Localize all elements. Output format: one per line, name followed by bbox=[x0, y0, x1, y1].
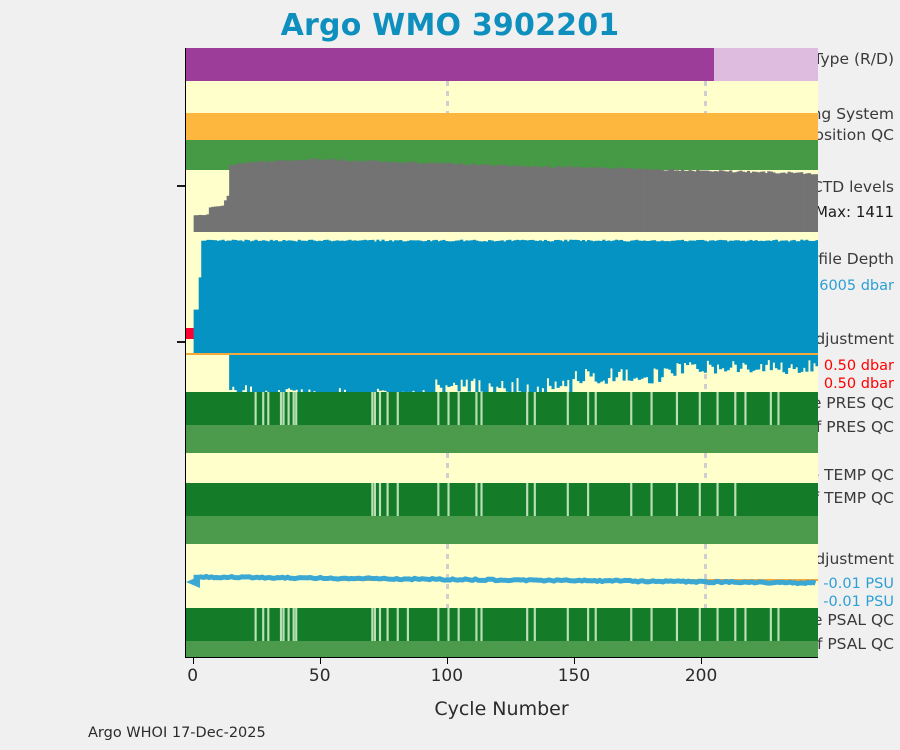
panel-date-type[interactable] bbox=[186, 48, 818, 81]
page-title: Argo WMO 3902201 bbox=[0, 8, 900, 43]
x-tick-label-100: 100 bbox=[431, 666, 463, 686]
temp-qc-series bbox=[186, 483, 818, 516]
x-tick-label-200: 200 bbox=[685, 666, 717, 686]
guide-cycle-201-d bbox=[704, 453, 707, 483]
panel-profile-pres-qc[interactable] bbox=[186, 392, 818, 425]
x-tick-0 bbox=[193, 658, 194, 664]
panel-profile-psal-qc[interactable] bbox=[186, 608, 818, 641]
pres-qc-series bbox=[186, 392, 818, 425]
psal-qc-series bbox=[186, 608, 818, 641]
plot-area bbox=[185, 48, 818, 658]
panel-mode-psal-qc[interactable] bbox=[186, 641, 818, 658]
spacer-pres-qc bbox=[186, 453, 818, 483]
x-tick-200 bbox=[701, 658, 702, 664]
argo-summary-figure: Argo WMO 3902201 Date Type (R/D) Positio… bbox=[0, 0, 900, 750]
footer-credit: Argo WHOI 17-Dec-2025 bbox=[88, 725, 266, 741]
guide-cycle-100-c bbox=[446, 453, 449, 483]
psal-adjustment-series bbox=[186, 544, 818, 614]
panel-psal-adjustment[interactable] bbox=[186, 544, 818, 614]
x-tick-100 bbox=[447, 658, 448, 664]
panel-positioning-system[interactable] bbox=[186, 113, 818, 140]
guide-cycle-100 bbox=[446, 81, 449, 113]
profile-depth-series bbox=[186, 236, 818, 328]
tick-pres-adjustment bbox=[177, 341, 185, 343]
x-axis-label: Cycle Number bbox=[185, 698, 818, 720]
x-tick-150 bbox=[574, 658, 575, 664]
panel-profile-temp-qc[interactable] bbox=[186, 483, 818, 516]
panel-mode-pres-qc[interactable] bbox=[186, 425, 818, 453]
x-tick-label-0: 0 bbox=[187, 666, 198, 686]
spacer-date-type bbox=[186, 81, 818, 113]
panel-mode-temp-qc[interactable] bbox=[186, 516, 818, 544]
panel-ctd-levels[interactable] bbox=[186, 152, 818, 232]
ctd-levels-series bbox=[186, 152, 818, 232]
x-tick-50 bbox=[320, 658, 321, 664]
x-tick-label-150: 150 bbox=[558, 666, 590, 686]
guide-cycle-201 bbox=[704, 81, 707, 113]
tick-ctd-levels bbox=[177, 185, 185, 187]
date-type-real-band bbox=[186, 48, 714, 81]
x-tick-label-50: 50 bbox=[309, 666, 331, 686]
panel-profile-depth[interactable] bbox=[186, 236, 818, 328]
